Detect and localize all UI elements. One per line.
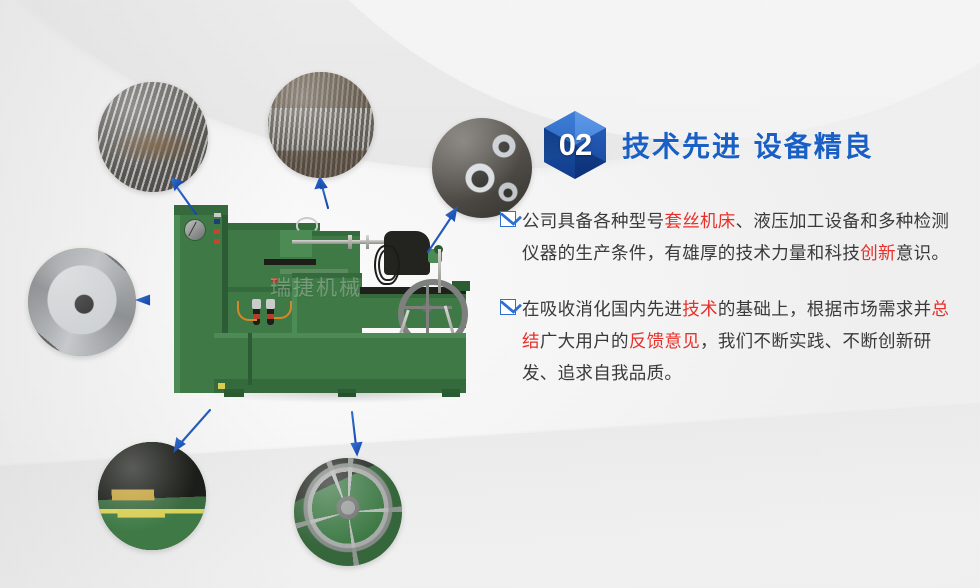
bullet-text: 在吸收消化国内先进技术的基础上，根据市场需求并总结广大用户的反馈意见，我们不断实… bbox=[522, 294, 954, 390]
machine-watermark: 瑞捷机械 bbox=[270, 275, 420, 301]
callout-handwheel bbox=[294, 458, 402, 566]
checkbox-checked-icon bbox=[500, 297, 519, 316]
promo-banner: 瑞捷机械 bbox=[0, 0, 980, 588]
bullet-text: 公司具备各种型号套丝机床、液压加工设备和多种检测仪器的生产条件，有雄厚的技术力量… bbox=[522, 206, 954, 270]
content-panel: 02 技术先进 设备精良 公司具备各种型号套丝机床、液压加工设备和多种检测仪器的… bbox=[500, 108, 960, 390]
callout-chuck-jaws bbox=[28, 248, 136, 356]
highlighted-text: 创新 bbox=[860, 244, 896, 264]
body-text: 在吸收消化国内先进 bbox=[522, 300, 682, 320]
section-heading: 02 技术先进 设备精良 bbox=[500, 108, 960, 182]
heading-title: 技术先进 设备精良 bbox=[622, 125, 874, 165]
thread-rolling-machine-photo: 瑞捷机械 bbox=[152, 183, 497, 421]
body-text: 广大用户的 bbox=[540, 332, 629, 352]
highlighted-text: 反馈意见 bbox=[629, 332, 700, 352]
callout-threaded-rod-end bbox=[98, 82, 208, 192]
badge-number: 02 bbox=[544, 111, 606, 179]
body-text: 公司具备各种型号 bbox=[522, 212, 664, 232]
body-text: 的基础上，根据市场需求并 bbox=[718, 300, 932, 320]
bullet-item: 公司具备各种型号套丝机床、液压加工设备和多种检测仪器的生产条件，有雄厚的技术力量… bbox=[500, 206, 960, 270]
bullet-item: 在吸收消化国内先进技术的基础上，根据市场需求并总结广大用户的反馈意见，我们不断实… bbox=[500, 294, 960, 390]
checkbox-checked-icon bbox=[500, 209, 519, 228]
callout-thread-cutting bbox=[268, 72, 374, 178]
hexagon-number-badge: 02 bbox=[544, 111, 606, 179]
highlighted-text: 技术 bbox=[682, 300, 718, 320]
body-text: 意识。 bbox=[896, 244, 949, 264]
highlighted-text: 套丝机床 bbox=[664, 212, 735, 232]
callout-valve-block bbox=[98, 442, 206, 550]
